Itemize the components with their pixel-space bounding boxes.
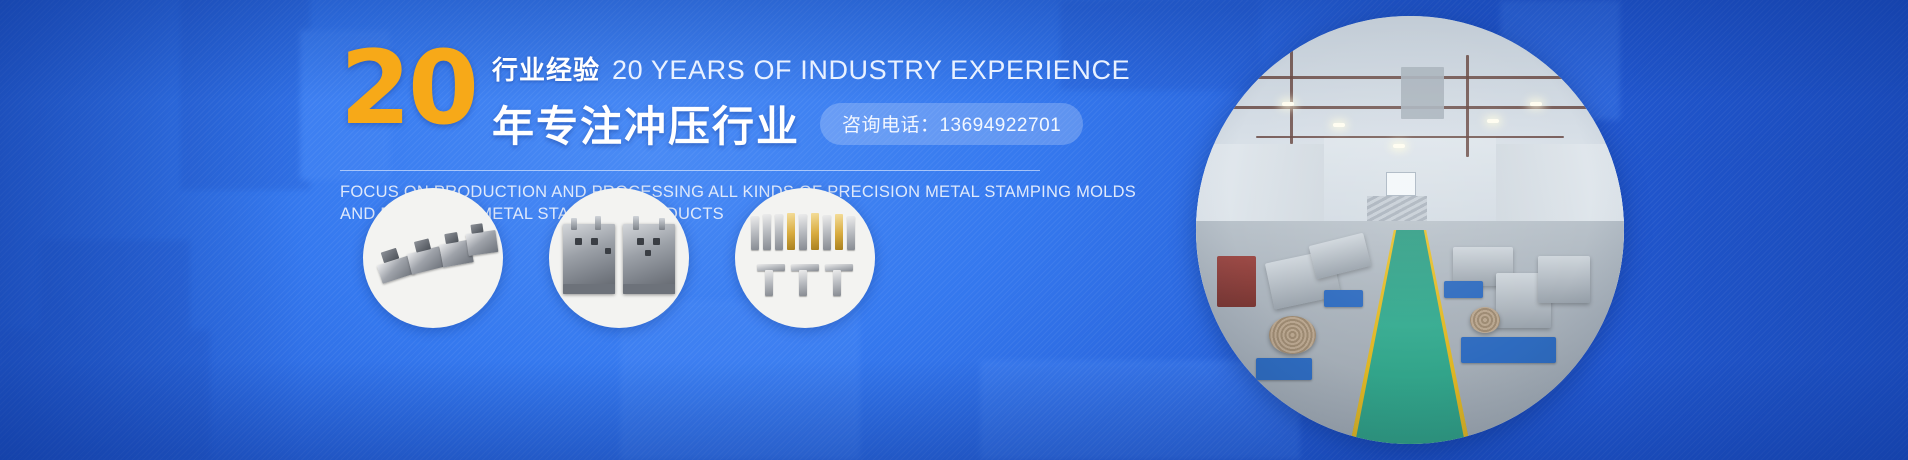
experience-en-label: 20 YEARS OF INDUSTRY EXPERIENCE (612, 55, 1130, 86)
product-circle-stamping-die[interactable] (549, 188, 689, 328)
headline-divider (340, 170, 1040, 171)
industry-focus-cn: 年专注冲压行业 (492, 93, 800, 154)
product-circle-terminals[interactable] (735, 188, 875, 328)
experience-cn-label: 行业经验 (492, 50, 600, 87)
headline-line-2: 年专注冲压行业 咨询电话：13694922701 (492, 93, 1130, 154)
headline-line-1: 行业经验 20 YEARS OF INDUSTRY EXPERIENCE (492, 50, 1130, 87)
connectors-illustration (363, 188, 503, 328)
factory-photo-circle[interactable] (1196, 16, 1624, 444)
product-circle-group (363, 188, 875, 328)
headline-text-group: 行业经验 20 YEARS OF INDUSTRY EXPERIENCE 年专注… (492, 40, 1130, 154)
phone-badge[interactable]: 咨询电话：13694922701 (820, 103, 1083, 145)
factory-photo-shading (1196, 16, 1624, 444)
promo-banner: 20 行业经验 20 YEARS OF INDUSTRY EXPERIENCE … (0, 0, 1908, 460)
headline-row: 20 行业经验 20 YEARS OF INDUSTRY EXPERIENCE … (340, 40, 1060, 154)
terminal-contacts-illustration (735, 188, 875, 328)
product-circle-metal-connectors[interactable] (363, 188, 503, 328)
die-mold-illustration (549, 188, 689, 328)
years-number: 20 (340, 46, 476, 132)
